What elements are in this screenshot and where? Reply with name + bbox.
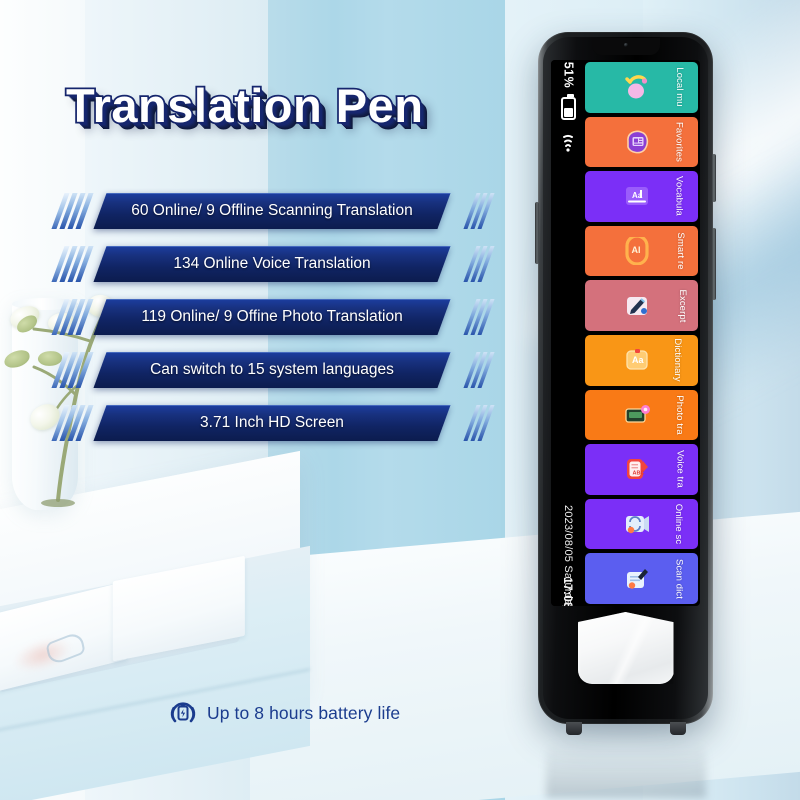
- stripe-decoration-left: [58, 193, 87, 229]
- app-tile-label: Dictionary: [672, 339, 683, 382]
- ai-smart-icon: AI: [620, 236, 654, 266]
- app-tile-dictionary[interactable]: Aa Dictionary: [585, 335, 698, 386]
- status-bar-bottom: 2023/08/05 Saturday 17:08: [551, 552, 585, 600]
- online-scan-icon: [620, 509, 654, 539]
- app-tile-scan-dictionary[interactable]: Scan dict: [585, 553, 698, 604]
- stripe-decoration-left: [58, 405, 87, 441]
- stripe-decoration-left: [58, 246, 87, 282]
- feature-bar: 119 Online/ 9 Offine Photo Translation: [58, 299, 488, 335]
- translation-pen-device: 51% 2023/08/05 Saturday 17:08: [538, 32, 713, 724]
- feature-label: 60 Online/ 9 Offline Scanning Translatio…: [100, 193, 444, 229]
- voice-card-icon: ABC: [620, 454, 654, 484]
- time-label: 17:08: [561, 577, 575, 606]
- feature-bar: 60 Online/ 9 Offline Scanning Translatio…: [58, 193, 488, 229]
- stripe-decoration-left: [58, 299, 87, 335]
- favorites-card-icon: [620, 127, 654, 157]
- excerpt-pen-icon: [620, 291, 654, 321]
- feature-label: Can switch to 15 system languages: [100, 352, 444, 388]
- vocabulary-aa-icon: Aa: [620, 181, 654, 211]
- home-button-gloss: [578, 612, 674, 684]
- device-reflection: [546, 732, 706, 798]
- front-camera-icon: [624, 43, 628, 47]
- app-tile-label: Favorites: [674, 122, 685, 162]
- app-tile-excerpt[interactable]: Excerpt: [585, 280, 698, 331]
- feature-bar: 134 Online Voice Translation: [58, 246, 488, 282]
- scan-dict-pen-icon: [620, 564, 654, 594]
- app-tile-list: Local mu Favorites: [585, 60, 700, 606]
- svg-text:ABC: ABC: [632, 471, 644, 477]
- status-bar-top: 51%: [551, 68, 585, 153]
- app-tile-label: Voice tra: [675, 451, 686, 489]
- battery-icon: [561, 97, 576, 120]
- cherry-music-icon: [620, 72, 654, 102]
- battery-level-fill: [564, 108, 573, 117]
- app-tile-online-scan[interactable]: Online sc: [585, 499, 698, 550]
- battery-percent-label: 51%: [561, 62, 575, 89]
- app-tile-local-music[interactable]: Local mu: [585, 62, 698, 113]
- feature-list: 60 Online/ 9 Offline Scanning Translatio…: [58, 193, 488, 458]
- app-tile-photo-translation[interactable]: Photo tra: [585, 390, 698, 441]
- battery-charging-circle-icon: [168, 698, 198, 728]
- app-tile-label: Excerpt: [677, 289, 688, 322]
- stripe-decoration-right: [470, 405, 488, 441]
- volume-down-button[interactable]: [712, 228, 716, 300]
- feature-label: 134 Online Voice Translation: [100, 246, 444, 282]
- app-tile-voice-translation[interactable]: ABC Voice tra: [585, 444, 698, 495]
- feature-bar: Can switch to 15 system languages: [58, 352, 488, 388]
- stripe-decoration-right: [470, 246, 488, 282]
- device-foot-right: [670, 722, 686, 735]
- photo-camera-icon: [620, 400, 654, 430]
- app-tile-label: Scan dict: [674, 559, 685, 599]
- status-bar: 51% 2023/08/05 Saturday 17:08: [551, 60, 585, 606]
- stripe-decoration-right: [470, 352, 488, 388]
- stripe-decoration-left: [58, 352, 87, 388]
- app-tile-smart-read[interactable]: AI Smart re: [585, 226, 698, 277]
- app-tile-vocabulary[interactable]: Aa Vocabula: [585, 171, 698, 222]
- battery-life-label: Up to 8 hours battery life: [207, 703, 400, 724]
- page-title: Translation Pen: [66, 78, 423, 133]
- device-foot-left: [566, 722, 582, 735]
- stripe-decoration-right: [470, 299, 488, 335]
- stripe-decoration-right: [470, 193, 488, 229]
- device-feet: [562, 722, 690, 735]
- device-body: 51% 2023/08/05 Saturday 17:08: [538, 32, 713, 724]
- feature-label: 119 Online/ 9 Offine Photo Translation: [100, 299, 444, 335]
- app-tile-label: Online sc: [673, 504, 684, 545]
- book-page-right: [113, 556, 245, 662]
- feature-label: 3.71 Inch HD Screen: [100, 405, 444, 441]
- app-tile-label: Smart re: [675, 232, 686, 269]
- dictionary-aa-icon: Aa: [620, 345, 654, 375]
- app-tile-favorites[interactable]: Favorites: [585, 117, 698, 168]
- app-tile-label: Photo tra: [674, 395, 685, 434]
- volume-up-button[interactable]: [712, 154, 716, 202]
- power-button[interactable]: [535, 202, 539, 264]
- svg-text:AI: AI: [631, 245, 640, 255]
- battery-life-note: Up to 8 hours battery life: [168, 698, 400, 728]
- svg-text:Aa: Aa: [632, 355, 644, 365]
- feature-bar: 3.71 Inch HD Screen: [58, 405, 488, 441]
- device-screen[interactable]: 51% 2023/08/05 Saturday 17:08: [551, 60, 700, 606]
- app-tile-label: Vocabula: [674, 177, 685, 217]
- app-tile-label: Local mu: [674, 68, 685, 107]
- wifi-signal-icon: [559, 133, 577, 155]
